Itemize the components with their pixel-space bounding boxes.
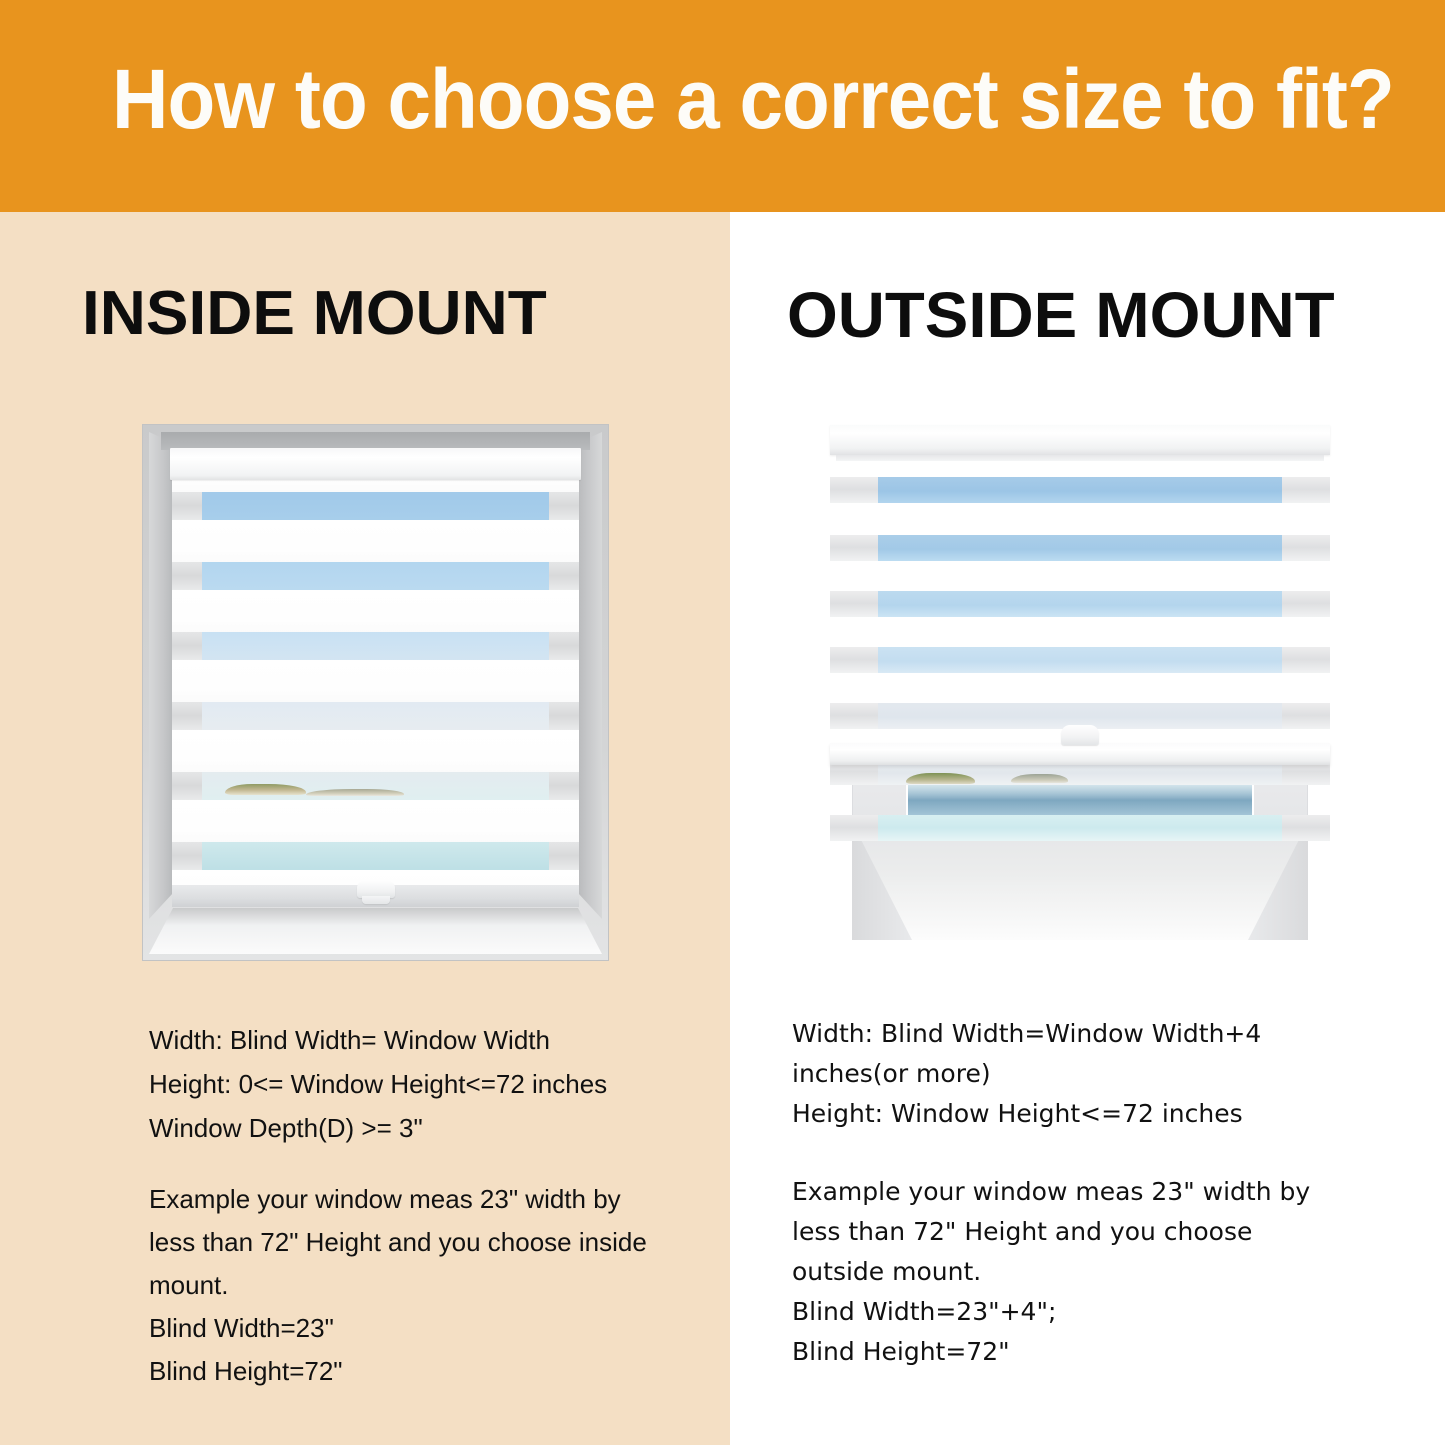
inside-mount-heading: INSIDE MOUNT — [82, 283, 547, 345]
blind-slat — [830, 815, 1330, 841]
outside-mount-spec-text: Width: Blind Width=Window Width+4 inches… — [792, 1014, 1337, 1134]
blind-slat-cap — [1282, 477, 1330, 503]
example-line: less than 72" Height and you choose — [792, 1212, 1347, 1252]
blind-edge-tab — [549, 842, 579, 870]
blind-slat — [830, 535, 1330, 561]
island-left-shape — [225, 784, 306, 796]
blind-edge-tab — [172, 492, 202, 520]
example-line: Blind Width=23" — [149, 1307, 694, 1350]
example-line: Example your window meas 23" width by — [149, 1178, 694, 1221]
example-line: less than 72" Height and you choose insi… — [149, 1221, 694, 1264]
spec-line: Window Depth(D) >= 3" — [149, 1106, 694, 1150]
inside-mount-spec-text: Width: Blind Width= Window Width Height:… — [149, 1018, 694, 1150]
blind-bottom-rail — [830, 743, 1330, 765]
outside-mount-illustration — [830, 425, 1330, 960]
window-opening — [172, 450, 579, 895]
inside-mount-illustration — [143, 425, 608, 960]
blind-slat-cap — [1282, 535, 1330, 561]
blind-slat-cap — [1282, 815, 1330, 841]
blind-slat-sheer — [878, 477, 1282, 503]
blind-edge-tab — [172, 562, 202, 590]
window-reveal-left — [149, 432, 173, 919]
blind-edge-tab — [172, 772, 202, 800]
blind-edge-tab — [172, 632, 202, 660]
infographic-page: How to choose a correct size to fit? INS… — [0, 0, 1445, 1445]
example-line: Blind Width=23"+4"; — [792, 1292, 1347, 1332]
example-line: Example your window meas 23" width by — [792, 1172, 1347, 1212]
blind-headrail-shadow — [836, 455, 1324, 461]
blind-slat-white — [172, 520, 579, 562]
header-band: How to choose a correct size to fit? — [0, 0, 1445, 212]
blind-slat-white — [172, 730, 579, 772]
blind-slat-cap — [1282, 591, 1330, 617]
blind-slat-cap — [830, 535, 878, 561]
blind-edge-tab — [549, 702, 579, 730]
outside-mount-heading: OUTSIDE MOUNT — [787, 283, 1335, 347]
page-title: How to choose a correct size to fit? — [112, 49, 1284, 149]
example-line: mount. — [149, 1264, 694, 1307]
blind-slat-sheer — [878, 815, 1282, 841]
blind-slat-sheer — [878, 535, 1282, 561]
spec-line: Width: Blind Width= Window Width — [149, 1018, 694, 1062]
blind-slat-cap — [1282, 647, 1330, 673]
blind-slat-sheer — [878, 647, 1282, 673]
blind-edge-tab — [549, 772, 579, 800]
spec-line: Width: Blind Width=Window Width+4 — [792, 1014, 1337, 1054]
inside-mount-example-text: Example your window meas 23" width by le… — [149, 1178, 694, 1393]
window-reveal-right — [578, 432, 602, 919]
blind-slat-cap — [830, 647, 878, 673]
blind-slat-cap — [830, 703, 878, 729]
sea-wave-highlight — [906, 783, 1254, 800]
blind-slat-cap — [1282, 703, 1330, 729]
blind-slat-white — [172, 590, 579, 632]
example-line: outside mount. — [792, 1252, 1347, 1292]
blind-slat-sheer — [878, 591, 1282, 617]
blind-slat-cap — [830, 591, 878, 617]
spec-line: Height: 0<= Window Height<=72 inches — [149, 1062, 694, 1106]
blind-edge-tab — [549, 632, 579, 660]
window-sill — [149, 908, 602, 954]
blind-edge-tab — [549, 562, 579, 590]
island-left-shape — [906, 773, 975, 785]
blind-slat-cap — [830, 815, 878, 841]
outside-mount-example-text: Example your window meas 23" width by le… — [792, 1172, 1347, 1372]
island-right-shape — [1011, 774, 1068, 783]
example-line: Blind Height=72" — [792, 1332, 1347, 1372]
blind-headrail — [830, 425, 1330, 455]
blind-handle-lip — [362, 896, 390, 904]
blind-handle — [1061, 725, 1099, 745]
blind-slat — [830, 477, 1330, 503]
blind-edge-tab — [172, 842, 202, 870]
blind-edge-tab — [172, 702, 202, 730]
blind-slat-white — [172, 660, 579, 702]
blind-edge-tab — [549, 492, 579, 520]
blind-slat — [830, 591, 1330, 617]
blind-slat — [830, 647, 1330, 673]
blind-slat-white — [172, 800, 579, 842]
example-line: Blind Height=72" — [149, 1350, 694, 1393]
blind-slat-cap — [830, 477, 878, 503]
spec-line: inches(or more) — [792, 1054, 1337, 1094]
spec-line: Height: Window Height<=72 inches — [792, 1094, 1337, 1134]
blind-headrail — [170, 448, 581, 480]
island-right-shape — [306, 789, 404, 796]
